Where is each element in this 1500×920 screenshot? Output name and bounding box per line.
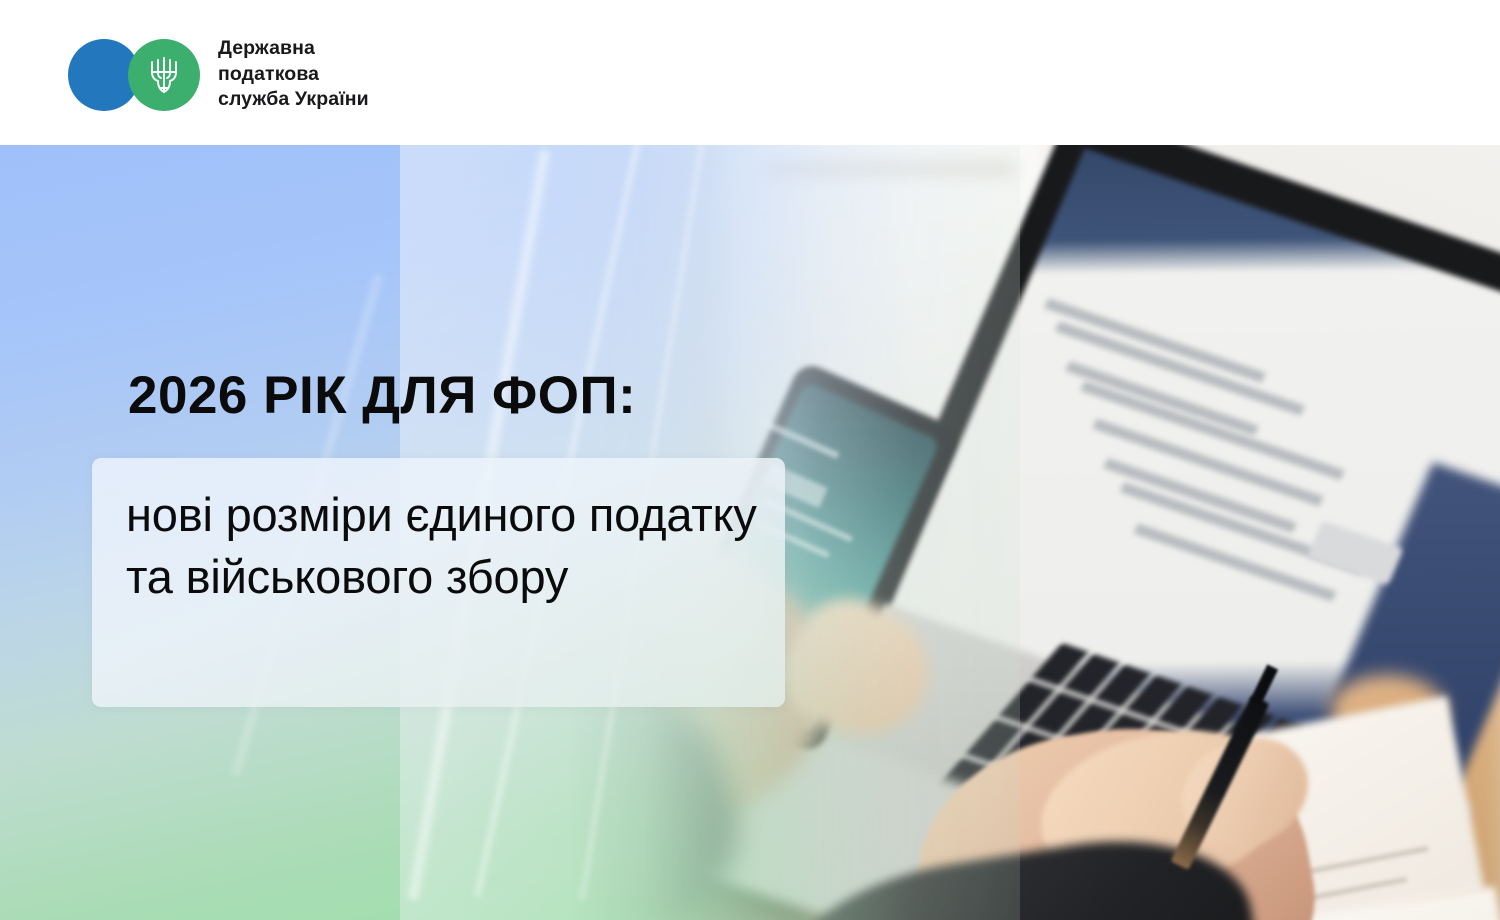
poster-canvas: 2026 РІК ДЛЯ ФОП: нові розміри єдиного п… (0, 0, 1500, 920)
photo-wall-line (765, 163, 1015, 175)
organization-name: Державна податкова служба України (218, 36, 369, 113)
page-title: 2026 РІК ДЛЯ ФОП: (128, 369, 636, 422)
logo-marks (68, 39, 200, 111)
subtitle-card: нові розміри єдиного податку та військов… (92, 458, 785, 707)
page-subtitle: нові розміри єдиного податку та військов… (126, 484, 766, 608)
brand-lockup[interactable]: Державна податкова служба України (68, 36, 369, 113)
ukraine-trident-icon (128, 39, 200, 111)
header-bar: Державна податкова служба України (0, 0, 1500, 145)
